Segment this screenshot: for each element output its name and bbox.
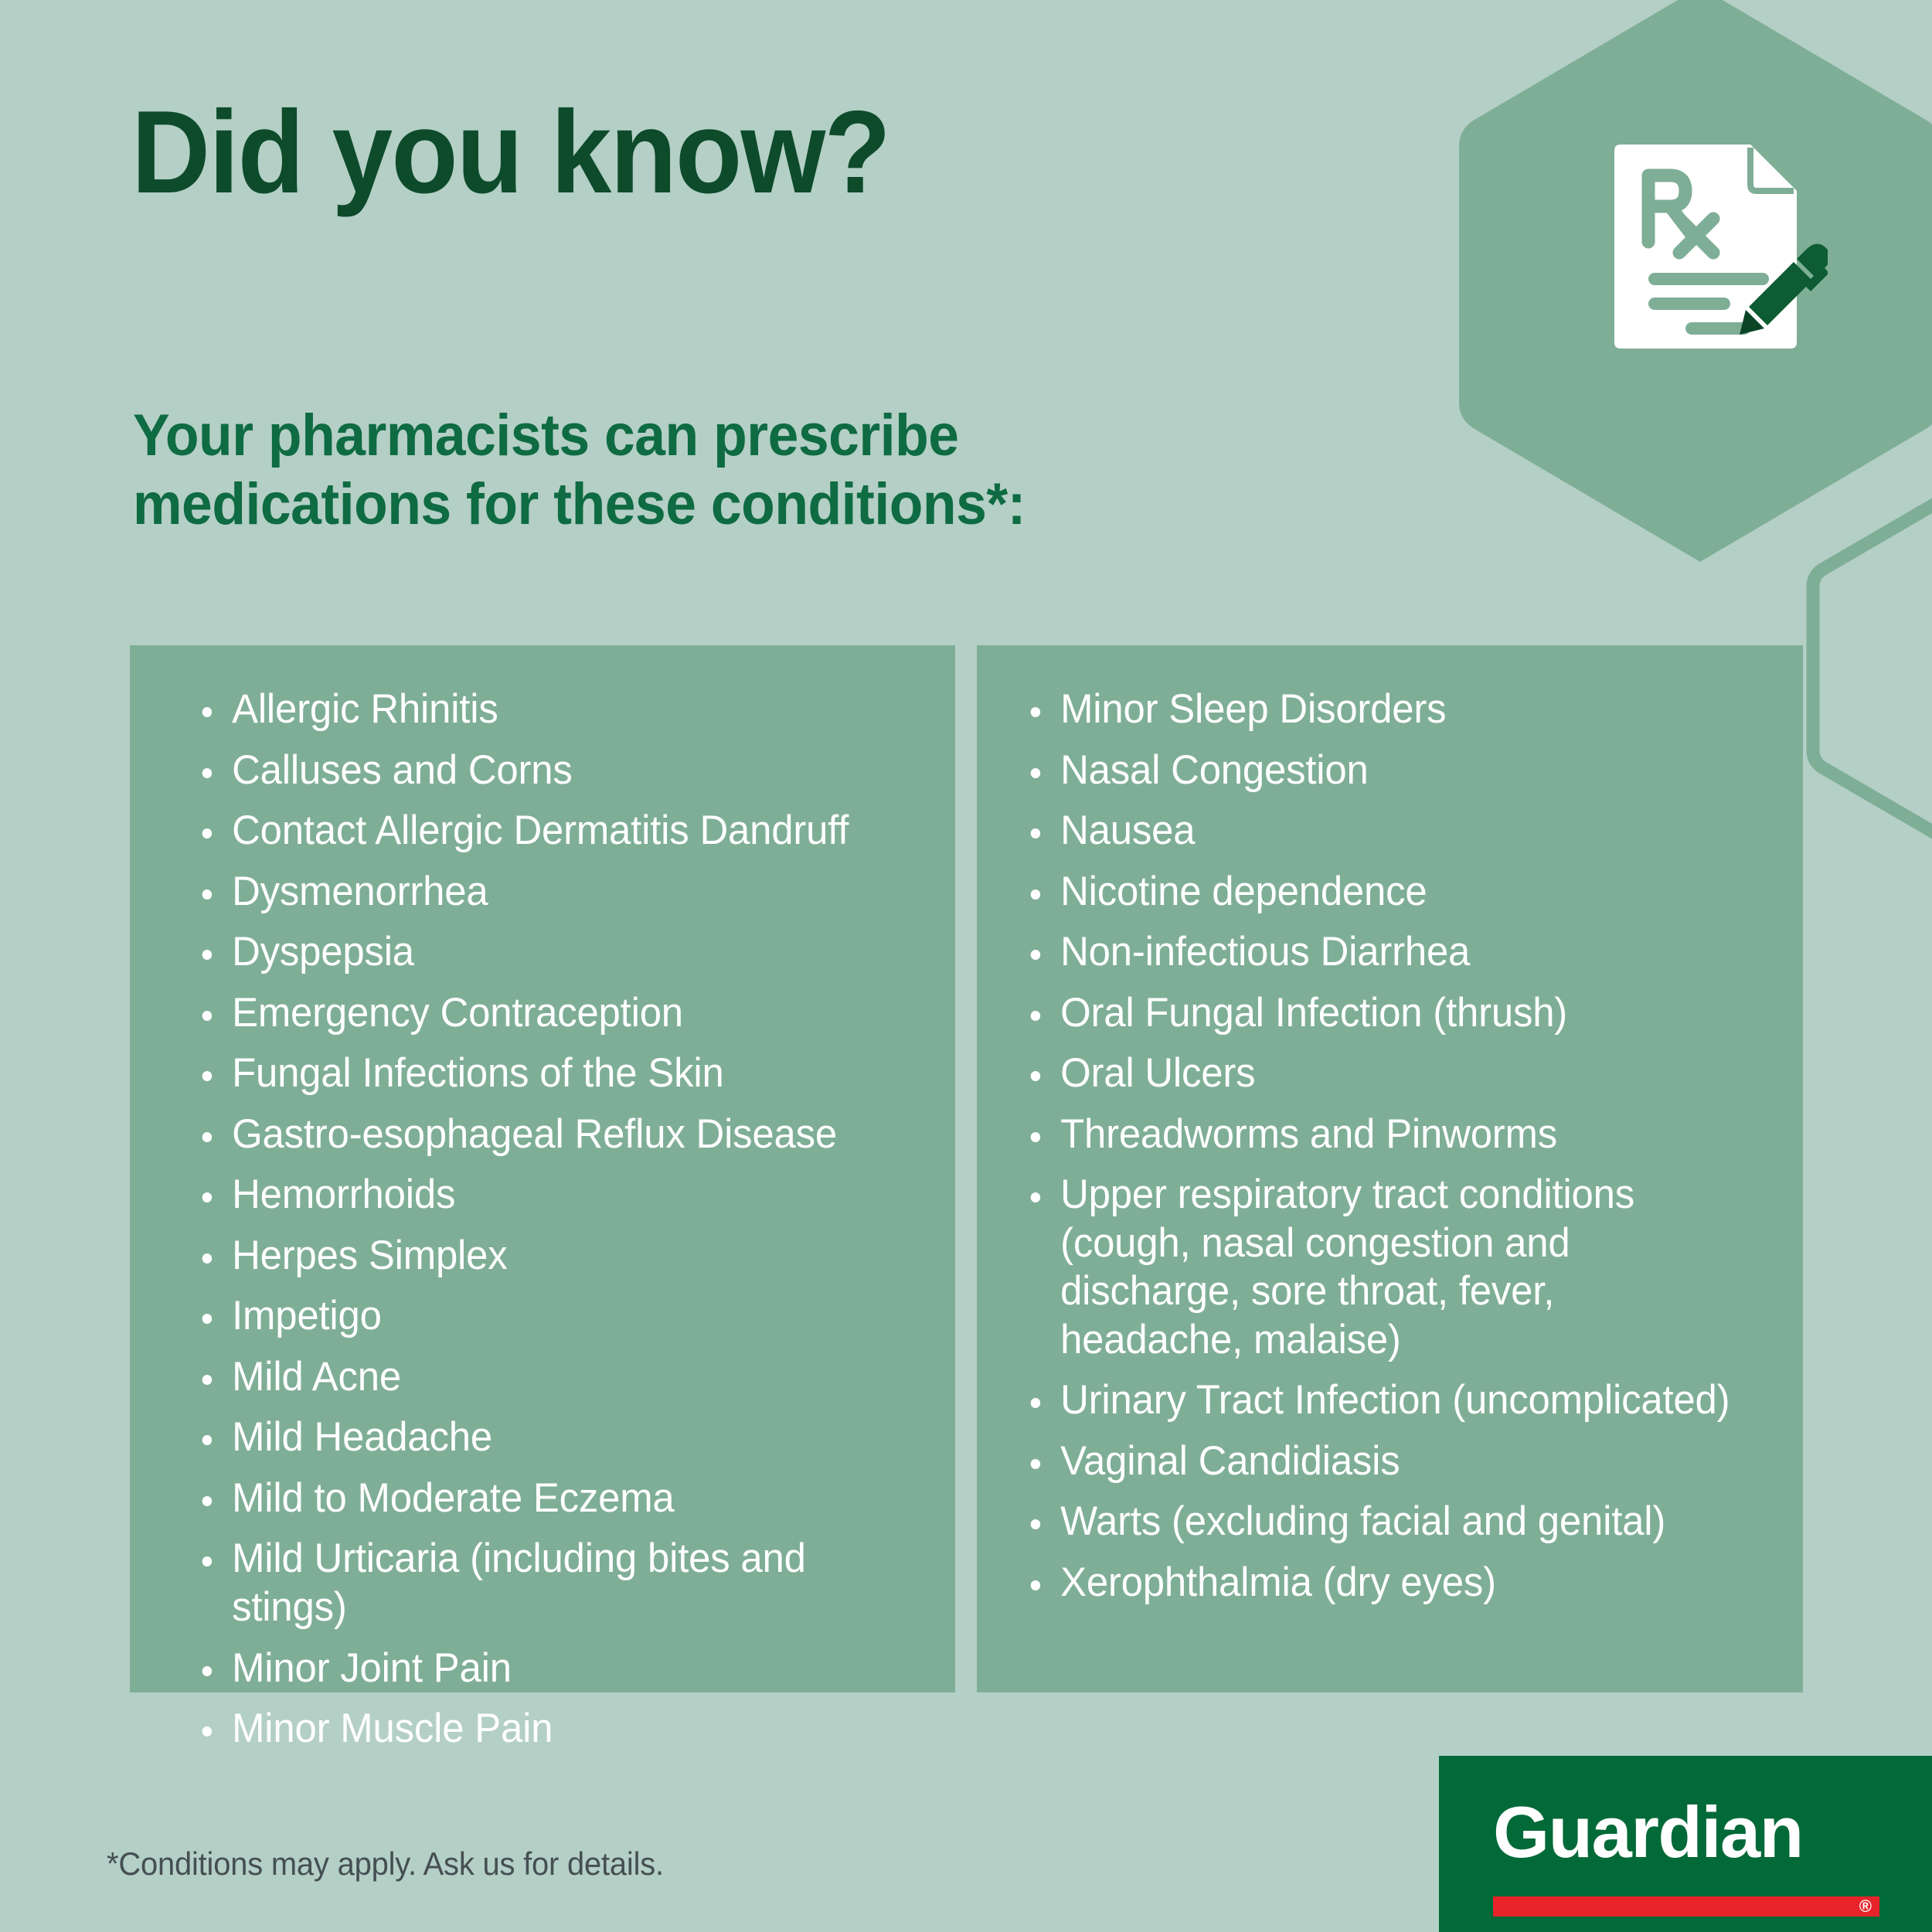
subtitle-line-1: Your pharmacists can prescribe	[133, 403, 959, 468]
condition-list-item: Herpes Simplex	[196, 1232, 900, 1281]
condition-list-item: Hemorrhoids	[196, 1171, 900, 1219]
condition-list-item: Dysmenorrhea	[196, 868, 900, 917]
hexagon-outline-shape	[1801, 475, 1932, 862]
page-title: Did you know?	[131, 93, 1281, 213]
condition-list-item: Mild to Moderate Eczema	[196, 1475, 900, 1523]
condition-list-item: Contact Allergic Dermatitis Dandruff	[196, 807, 900, 855]
condition-list-item: Non-infectious Diarrhea	[1025, 928, 1747, 977]
conditions-card-group: Allergic RhinitisCalluses and CornsConta…	[130, 645, 1803, 1692]
condition-list-item: Calluses and Corns	[196, 747, 900, 795]
condition-list-item: Minor Sleep Disorders	[1025, 685, 1747, 734]
condition-list-item: Xerophthalmia (dry eyes)	[1025, 1559, 1747, 1607]
condition-list-item: Minor Joint Pain	[196, 1645, 900, 1693]
condition-list-item: Warts (excluding facial and genital)	[1025, 1498, 1747, 1546]
guardian-red-rule: ®	[1493, 1896, 1879, 1917]
conditions-list-left: Allergic RhinitisCalluses and CornsConta…	[156, 685, 929, 1753]
condition-list-item: Minor Muscle Pain	[196, 1705, 900, 1753]
conditions-list-right: Minor Sleep DisordersNasal CongestionNau…	[1003, 685, 1777, 1607]
prescription-rx-document-icon	[1604, 143, 1828, 375]
condition-list-item: Nausea	[1025, 807, 1747, 855]
condition-list-item: Nasal Congestion	[1025, 747, 1747, 795]
condition-list-item: Emergency Contraception	[196, 989, 900, 1038]
condition-list-item: Vaginal Candidiasis	[1025, 1437, 1747, 1486]
condition-list-item: Dyspepsia	[196, 928, 900, 977]
condition-list-item: Allergic Rhinitis	[196, 685, 900, 734]
guardian-wordmark: Guardian	[1493, 1796, 1879, 1869]
condition-list-item: Gastro-esophageal Reflux Disease	[196, 1111, 900, 1159]
subtitle-line-2: medications for these conditions*:	[133, 471, 1026, 537]
infographic-poster: Did you know? Your pharmacists can presc…	[0, 0, 1932, 1932]
conditions-card-left: Allergic RhinitisCalluses and CornsConta…	[130, 645, 955, 1692]
condition-list-item: Fungal Infections of the Skin	[196, 1049, 900, 1098]
condition-list-item: Upper respiratory tract conditions (coug…	[1025, 1171, 1747, 1364]
footnote-disclaimer: *Conditions may apply. Ask us for detail…	[107, 1845, 664, 1883]
condition-list-item: Nicotine dependence	[1025, 868, 1747, 917]
condition-list-item: Mild Acne	[196, 1353, 900, 1402]
registered-trademark-mark: ®	[1859, 1897, 1872, 1916]
condition-list-item: Oral Ulcers	[1025, 1049, 1747, 1098]
page-subtitle: Your pharmacists can prescribe medicatio…	[133, 402, 1325, 539]
condition-list-item: Threadworms and Pinworms	[1025, 1111, 1747, 1159]
condition-list-item: Mild Urticaria (including bites and stin…	[196, 1535, 900, 1631]
conditions-card-right: Minor Sleep DisordersNasal CongestionNau…	[977, 645, 1803, 1692]
guardian-logo: Guardian ®	[1439, 1756, 1932, 1932]
condition-list-item: Mild Headache	[196, 1413, 900, 1462]
condition-list-item: Impetigo	[196, 1292, 900, 1341]
condition-list-item: Urinary Tract Infection (uncomplicated)	[1025, 1376, 1747, 1425]
condition-list-item: Oral Fungal Infection (thrush)	[1025, 989, 1747, 1038]
